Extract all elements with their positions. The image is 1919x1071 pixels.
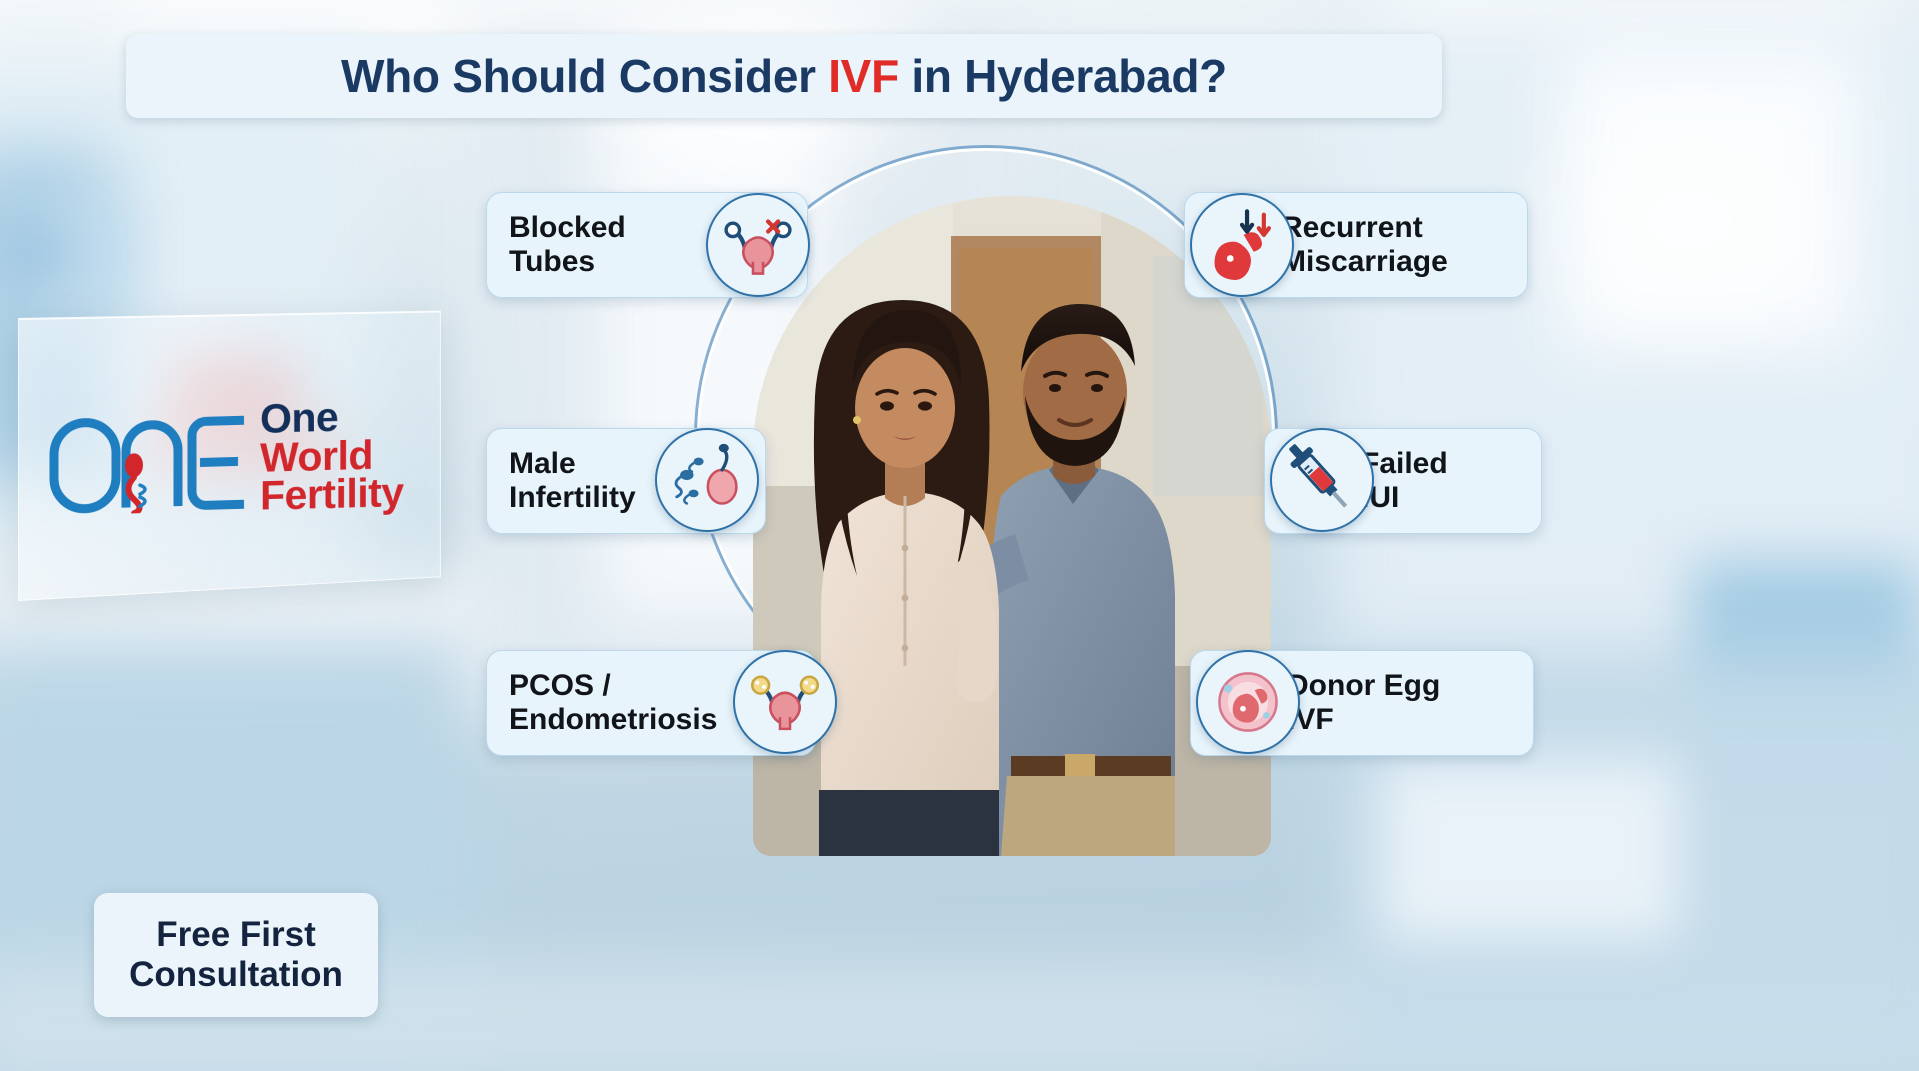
ovary-icon (733, 650, 837, 754)
item-label-blocked-tubes: Blocked Tubes (509, 211, 626, 278)
embryo-arrows-icon-glyph (1200, 203, 1284, 287)
item-label-male-infertility: Male Infertility (509, 447, 636, 514)
embryo-arrows-icon (1190, 193, 1294, 297)
brand-wordmark: One World Fertility (260, 392, 404, 516)
cta-label: Free First Consultation (129, 915, 343, 995)
brand-line-fertility: Fertility (260, 473, 404, 516)
one-world-fertility-logomark (48, 402, 248, 516)
title-text-pre: Who Should Consider (341, 50, 828, 102)
syringe-icon (1270, 428, 1374, 532)
embryo-cell-icon-glyph (1206, 660, 1290, 744)
desk-right (1380, 760, 1680, 940)
page-title: Who Should Consider IVF in Hyderabad? (341, 49, 1227, 103)
bokeh-glow-right (1560, 120, 1820, 320)
brand-logo: One World Fertility (48, 386, 458, 525)
title-text-post: in Hyderabad? (899, 50, 1227, 102)
ovary-icon-glyph (743, 660, 827, 744)
sperm-icon (655, 428, 759, 532)
logo-watermark-blur (6, 222, 76, 284)
item-label-donor-egg-ivf: Donor Egg IVF (1287, 669, 1440, 736)
free-consultation-button[interactable]: Free First Consultation (94, 893, 378, 1017)
uterus-icon-glyph (716, 203, 800, 287)
item-label-failed-iui: Failed IUI (1361, 447, 1448, 514)
title-banner: Who Should Consider IVF in Hyderabad? (126, 34, 1442, 118)
uterus-icon (706, 193, 810, 297)
item-label-pcos-endometriosis: PCOS / Endometriosis (509, 669, 717, 736)
title-highlight-ivf: IVF (828, 50, 899, 102)
item-label-recurrent-miscarriage: Recurrent Miscarriage (1281, 211, 1448, 278)
embryo-cell-icon (1196, 650, 1300, 754)
sperm-icon-glyph (665, 438, 749, 522)
syringe-icon-glyph (1280, 438, 1364, 522)
